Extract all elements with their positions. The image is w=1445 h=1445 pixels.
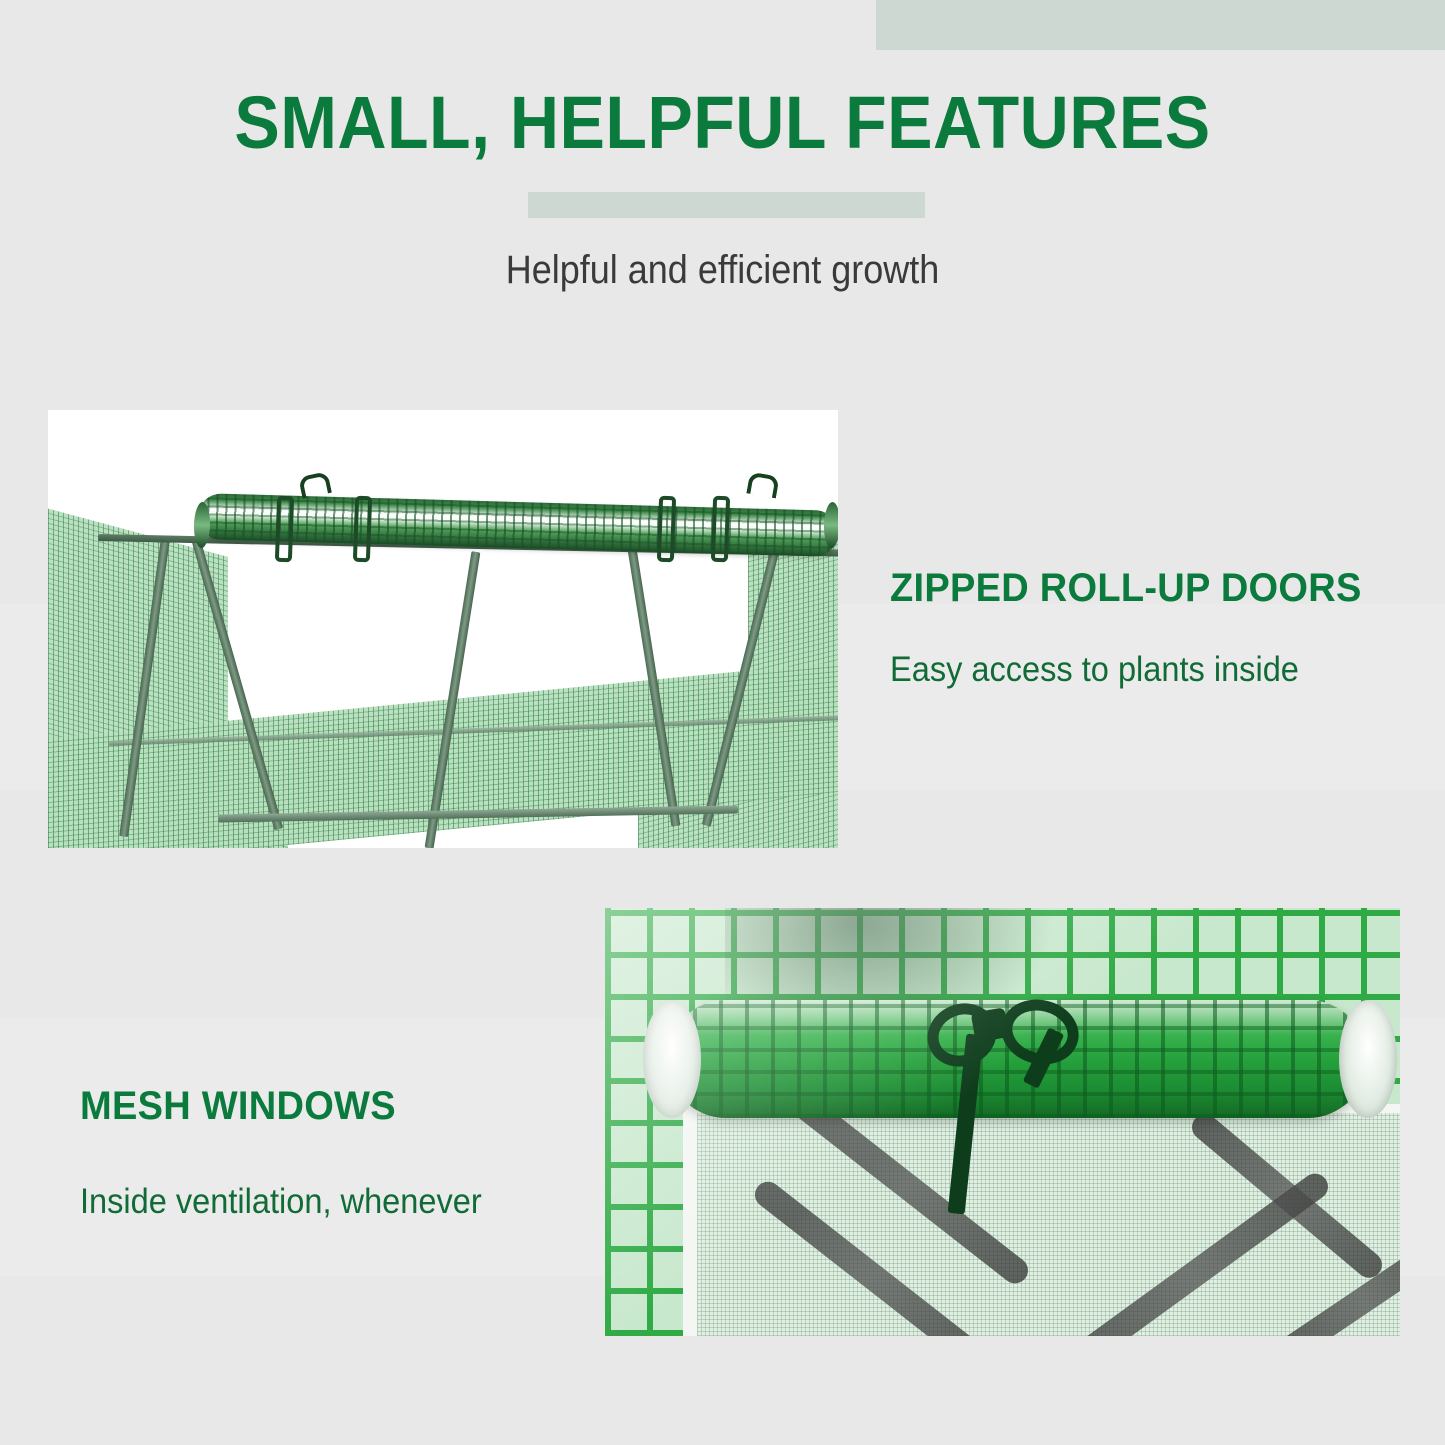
feature-heading-zipped-roll-up-doors: ZIPPED ROLL-UP DOORS	[890, 568, 1362, 608]
feature-infographic: { "header": { "title": "SMALL, HELPFUL F…	[0, 0, 1445, 1445]
title-underline-bar	[528, 192, 925, 218]
feature-heading-mesh-windows: MESH WINDOWS	[80, 1086, 396, 1126]
feature-subtext-mesh-windows: Inside ventilation, whenever	[80, 1184, 482, 1219]
roll-up-door-scene	[48, 410, 838, 848]
door-retaining-strap	[657, 496, 676, 563]
page-title: SMALL, HELPFUL FEATURES	[58, 86, 1387, 160]
product-photo-mesh-window	[605, 908, 1400, 1336]
door-hook-clip	[746, 472, 779, 499]
page-subtitle: Helpful and efficient growth	[72, 250, 1373, 290]
product-photo-roll-up-door	[48, 410, 838, 848]
door-retaining-strap	[275, 496, 294, 563]
door-retaining-strap	[353, 496, 372, 563]
door-retaining-strap	[711, 496, 730, 563]
decorative-corner-block	[876, 0, 1445, 50]
rolled-door-end-right	[823, 502, 838, 548]
cover-sheen-overlay	[605, 908, 1400, 1336]
door-hook-clip	[298, 471, 332, 499]
feature-subtext-zipped-roll-up-doors: Easy access to plants inside	[890, 652, 1299, 687]
mesh-window-scene	[605, 908, 1400, 1336]
